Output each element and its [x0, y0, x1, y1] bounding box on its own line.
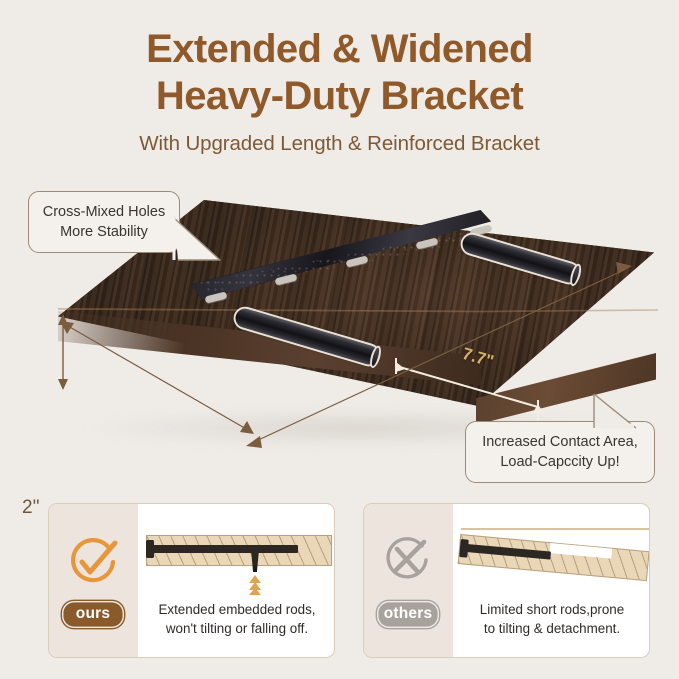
- ours-caption-line-2: won't tilting or falling off.: [142, 619, 332, 638]
- callout-left-line-1: Cross-Mixed Holes: [42, 202, 166, 222]
- comparison-panel-ours: ours Extended embedded rods, won't tilti…: [48, 503, 335, 658]
- x-circle-icon: [380, 534, 436, 590]
- header: Extended & Widened Heavy-Duty Bracket Wi…: [0, 26, 679, 156]
- page-subtitle: With Upgraded Length & Reinforced Bracke…: [0, 132, 679, 156]
- ours-illustration: [138, 504, 335, 600]
- depth-dimension-arrow: [52, 310, 262, 445]
- ours-caption-line-1: Extended embedded rods,: [142, 600, 332, 619]
- ours-embedded-rod: [152, 545, 298, 553]
- callout-right-line-1: Increased Contact Area,: [479, 432, 641, 452]
- callout-left-tail: [172, 216, 226, 266]
- others-rod-bracket-cap: [459, 539, 469, 558]
- page-title-line-2: Heavy-Duty Bracket: [0, 73, 679, 120]
- others-wood-plank: [458, 534, 650, 581]
- others-illustration: [453, 504, 650, 600]
- callout-right-line-2: Load-Capccity Up!: [479, 452, 641, 472]
- others-caption-line-1: Limited short rods,prone: [457, 600, 647, 619]
- callout-cross-mixed-holes: Cross-Mixed Holes More Stability: [28, 191, 180, 253]
- callout-right-tail: [580, 392, 640, 434]
- callout-left-line-2: More Stability: [42, 222, 166, 242]
- others-caption: Limited short rods,prone to tilting & de…: [457, 600, 647, 638]
- ours-screw-icon: [251, 550, 259, 572]
- others-reference-line: [461, 528, 650, 530]
- ours-caption: Extended embedded rods, won't tilting or…: [142, 600, 332, 638]
- page-title-line-1: Extended & Widened: [0, 26, 679, 73]
- others-caption-line-2: to tilting & detachment.: [457, 619, 647, 638]
- badge-others: others: [377, 601, 439, 628]
- ours-rod-bracket-cap: [146, 540, 154, 558]
- product-infographic: Extended & Widened Heavy-Duty Bracket Wi…: [0, 0, 679, 679]
- comparison-section: ours Extended embedded rods, won't tilti…: [0, 503, 679, 663]
- ours-load-arrow-icon: [247, 575, 263, 595]
- comparison-panel-others: others Limited short rods,prone to tilti…: [363, 503, 650, 658]
- check-circle-icon: [65, 534, 121, 590]
- badge-ours: ours: [62, 601, 124, 628]
